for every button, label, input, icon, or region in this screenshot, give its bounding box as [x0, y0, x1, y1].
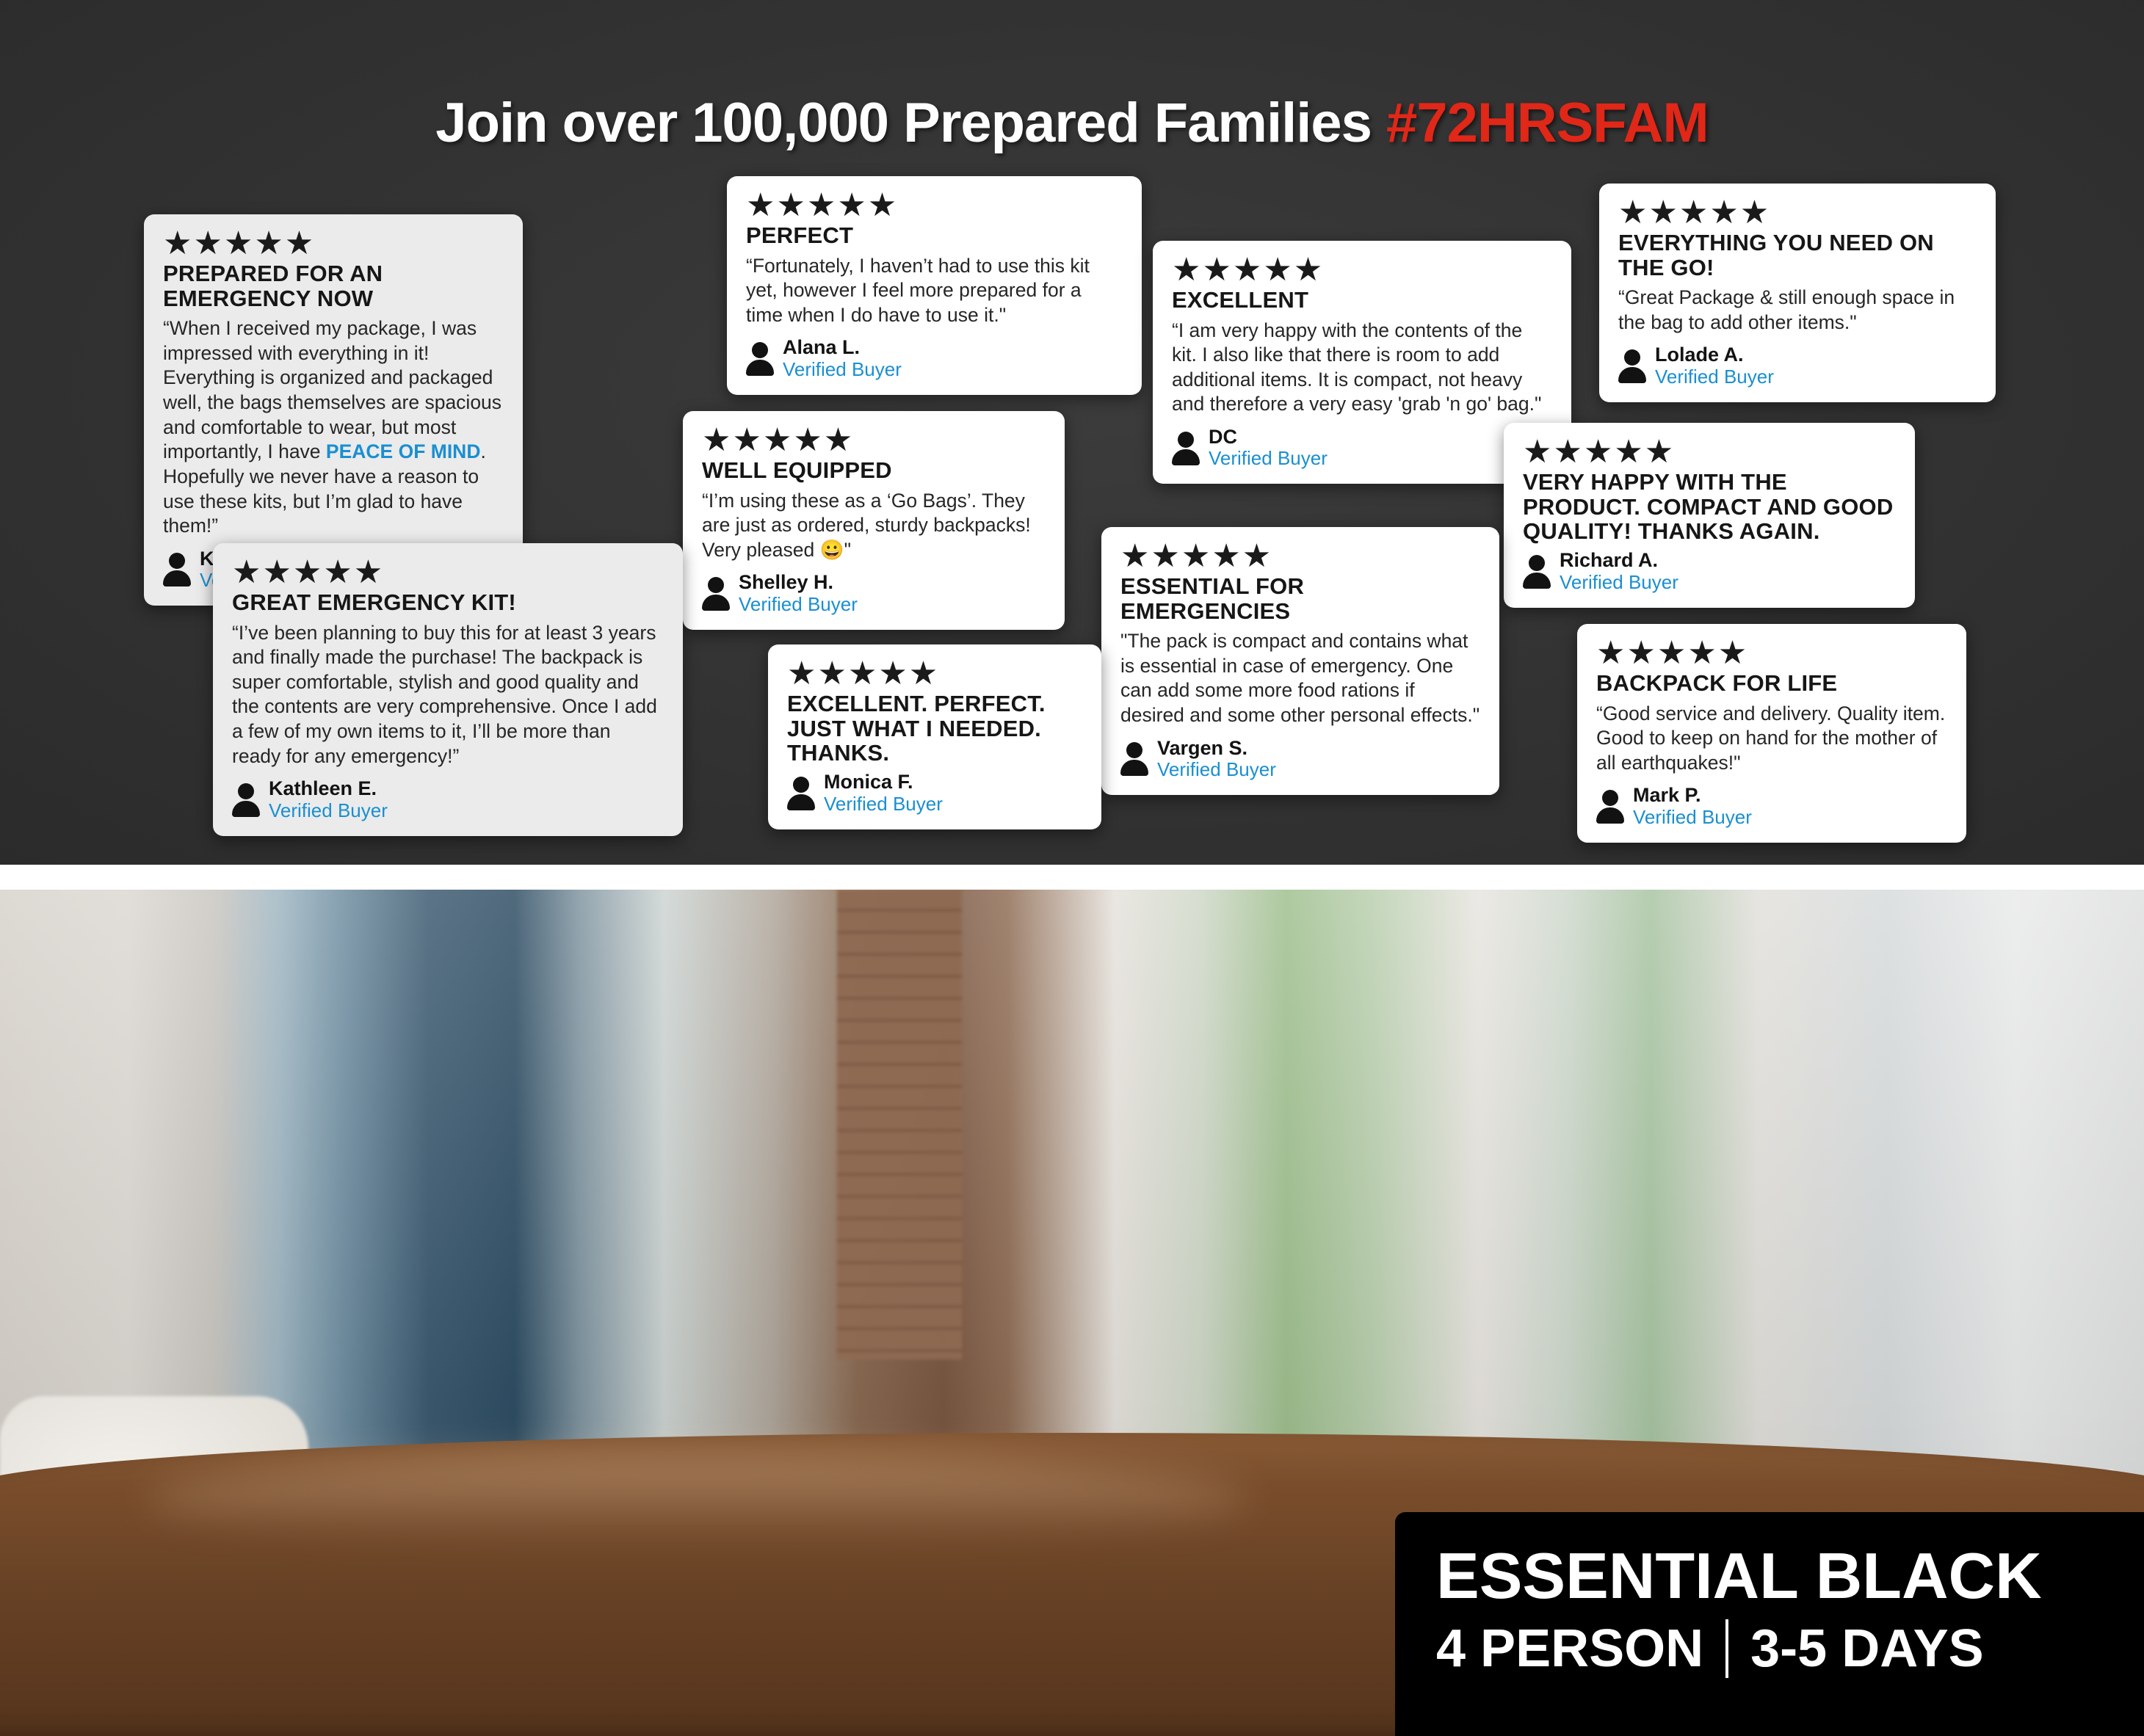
brick-pillar [837, 890, 962, 1359]
review-body: “When I received my package, I was impre… [163, 316, 504, 539]
reviewer-block: Vargen S. Verified Buyer [1120, 737, 1480, 780]
review-body: “Good service and delivery. Quality item… [1596, 702, 1947, 776]
product-duration: 3-5 DAYS [1750, 1622, 1984, 1675]
reviewer-name: Alana L. [783, 336, 902, 358]
review-title: EXCELLENT. PERFECT. JUST WHAT I NEEDED. … [787, 691, 1082, 765]
avatar-person-icon [746, 342, 774, 374]
review-card-excellent-perfect-just-what-i-needed[interactable]: ★★★★★ EXCELLENT. PERFECT. JUST WHAT I NE… [768, 644, 1101, 829]
verified-buyer-label: Verified Buyer [1209, 448, 1328, 469]
review-body: "The pack is compact and contains what i… [1120, 629, 1480, 728]
star-rating-icon: ★★★★★ [1172, 257, 1552, 283]
star-rating-icon: ★★★★★ [232, 559, 664, 586]
reviewer-block: Kathleen E. Verified Buyer [232, 777, 664, 821]
star-rating-icon: ★★★★★ [1120, 543, 1480, 570]
product-label: ESSENTIAL BLACK 4 PERSON 3-5 DAYS [1395, 1512, 2144, 1736]
reviewer-info: Kathleen E. Verified Buyer [269, 777, 388, 821]
review-title: VERY HAPPY WITH THE PRODUCT. COMPACT AND… [1523, 470, 1896, 543]
review-card-perfect[interactable]: ★★★★★ PERFECT “Fortunately, I haven’t ha… [727, 176, 1142, 395]
review-card-everything-you-need-on-the-go[interactable]: ★★★★★ EVERYTHING YOU NEED ON THE GO! “Gr… [1599, 184, 1996, 402]
verified-buyer-label: Verified Buyer [1560, 572, 1678, 593]
product-name: ESSENTIAL BLACK [1436, 1544, 2112, 1608]
reviewer-name: Kathleen E. [269, 777, 388, 799]
star-rating-icon: ★★★★★ [702, 427, 1046, 454]
reviewer-info: Shelley H. Verified Buyer [739, 571, 858, 614]
review-title: PREPARED FOR AN EMERGENCY NOW [163, 261, 504, 310]
review-body: “I’ve been planning to buy this for at l… [232, 621, 664, 769]
product-person-count: 4 PERSON [1436, 1622, 1703, 1675]
lifestyle-photo: 72 HRS SURVIVAL & FIRST AID EMERGENCYDRI… [0, 890, 2144, 1736]
reviewer-info: Vargen S. Verified Buyer [1157, 737, 1276, 780]
review-title: GREAT EMERGENCY KIT! [232, 590, 664, 614]
review-card-essential-for-emergencies[interactable]: ★★★★★ ESSENTIAL FOR EMERGENCIES "The pac… [1101, 527, 1499, 795]
avatar-person-icon [787, 777, 815, 809]
avatar-person-icon [163, 553, 191, 585]
review-title: ESSENTIAL FOR EMERGENCIES [1120, 574, 1480, 623]
review-card-well-equipped[interactable]: ★★★★★ WELL EQUIPPED “I’m using these as … [683, 411, 1065, 630]
review-body: “Fortunately, I haven’t had to use this … [746, 254, 1123, 328]
reviewer-info: Mark P. Verified Buyer [1633, 784, 1752, 827]
review-card-very-happy-with-the-product[interactable]: ★★★★★ VERY HAPPY WITH THE PRODUCT. COMPA… [1504, 423, 1915, 608]
spec-divider [1725, 1619, 1728, 1678]
star-rating-icon: ★★★★★ [1523, 439, 1896, 465]
reviewer-block: DC Verified Buyer [1172, 426, 1552, 469]
review-body-highlight: PEACE OF MIND [326, 440, 481, 462]
avatar-person-icon [1596, 790, 1624, 822]
reviewer-name: Shelley H. [739, 571, 858, 593]
review-title: PERFECT [746, 223, 1123, 247]
verified-buyer-label: Verified Buyer [783, 359, 902, 380]
reviewer-block: Richard A. Verified Buyer [1523, 549, 1896, 592]
headline-hashtag: #72HRSFAM [1386, 92, 1709, 154]
star-rating-icon: ★★★★★ [1618, 200, 1977, 226]
headline-main-text: Join over 100,000 Prepared Families [435, 92, 1386, 154]
reviewer-block: Alana L. Verified Buyer [746, 336, 1123, 379]
reviewer-block: Shelley H. Verified Buyer [702, 571, 1046, 614]
review-body: “I am very happy with the contents of th… [1172, 319, 1552, 418]
review-title: BACKPACK FOR LIFE [1596, 671, 1947, 695]
verified-buyer-label: Verified Buyer [1655, 366, 1774, 388]
reviewer-block: Lolade A. Verified Buyer [1618, 344, 1977, 387]
review-body: “Great Package & still enough space in t… [1618, 286, 1977, 335]
review-body: “I’m using these as a ‘Go Bags’. They ar… [702, 489, 1046, 563]
review-title: WELL EQUIPPED [702, 458, 1046, 482]
avatar-person-icon [232, 783, 260, 816]
avatar-person-icon [1523, 555, 1551, 587]
reviewer-info: DC Verified Buyer [1209, 426, 1328, 469]
reviewer-name: Richard A. [1560, 549, 1678, 571]
verified-buyer-label: Verified Buyer [739, 594, 858, 615]
verified-buyer-label: Verified Buyer [1157, 759, 1276, 780]
reviewer-info: Richard A. Verified Buyer [1560, 549, 1678, 592]
avatar-person-icon [1120, 742, 1148, 774]
review-card-backpack-for-life[interactable]: ★★★★★ BACKPACK FOR LIFE “Good service an… [1577, 624, 1966, 843]
verified-buyer-label: Verified Buyer [824, 793, 943, 815]
reviewer-block: Monica F. Verified Buyer [787, 771, 1082, 814]
reviewer-name: Mark P. [1633, 784, 1752, 806]
product-specs: 4 PERSON 3-5 DAYS [1436, 1619, 2112, 1678]
reviewer-name: Monica F. [824, 771, 943, 793]
page-headline: Join over 100,000 Prepared Families #72H… [0, 91, 2144, 155]
table-reflection [147, 1455, 1248, 1543]
review-title: EVERYTHING YOU NEED ON THE GO! [1618, 230, 1977, 280]
reviewer-name: Vargen S. [1157, 737, 1276, 759]
review-title: EXCELLENT [1172, 288, 1552, 312]
reviewer-block: Mark P. Verified Buyer [1596, 784, 1947, 827]
star-rating-icon: ★★★★★ [746, 192, 1123, 219]
star-rating-icon: ★★★★★ [1596, 640, 1947, 667]
avatar-person-icon [702, 577, 730, 609]
section-divider [0, 865, 2144, 890]
avatar-person-icon [1618, 349, 1646, 382]
reviewer-name: DC [1209, 426, 1328, 448]
star-rating-icon: ★★★★★ [163, 230, 504, 257]
star-rating-icon: ★★★★★ [787, 661, 1082, 687]
reviewer-name: Lolade A. [1655, 344, 1774, 366]
reviewer-info: Lolade A. Verified Buyer [1655, 344, 1774, 387]
reviews-section: Join over 100,000 Prepared Families #72H… [0, 0, 2144, 865]
verified-buyer-label: Verified Buyer [1633, 807, 1752, 828]
avatar-person-icon [1172, 432, 1200, 464]
review-card-great-emergency-kit[interactable]: ★★★★★ GREAT EMERGENCY KIT! “I’ve been pl… [213, 543, 683, 836]
reviewer-info: Alana L. Verified Buyer [783, 336, 902, 379]
reviewer-info: Monica F. Verified Buyer [824, 771, 943, 814]
verified-buyer-label: Verified Buyer [269, 800, 388, 821]
